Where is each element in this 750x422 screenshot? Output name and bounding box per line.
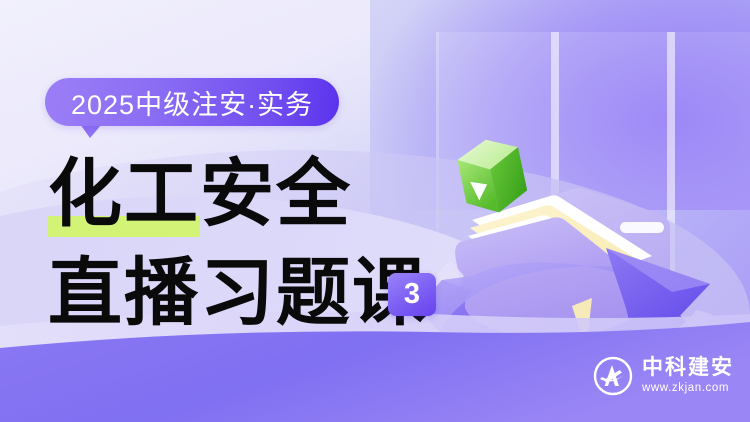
course-promo-banner: 2025中级注安·实务 化工安全 直播习题课 3 中科建安 www.zkjan.… [0,0,750,422]
page-title-line-1: 化工安全 [48,158,352,232]
brand-website: www.zkjan.com [642,381,734,396]
brand-logo-text: 中科建安 www.zkjan.com [642,356,734,396]
page-title-line-2: 直播习题课 [48,257,428,331]
zkjan-circle-mark-icon [593,356,633,396]
brand-name: 中科建安 [642,356,734,379]
course-category-badge: 2025中级注安·实务 [45,78,339,126]
badge-pointer-tail [80,124,102,138]
episode-number-badge: 3 [388,273,436,316]
course-category-label: 2025中级注安·实务 [71,83,313,122]
episode-number-label: 3 [404,278,420,311]
brand-logo: 中科建安 www.zkjan.com [593,356,734,396]
